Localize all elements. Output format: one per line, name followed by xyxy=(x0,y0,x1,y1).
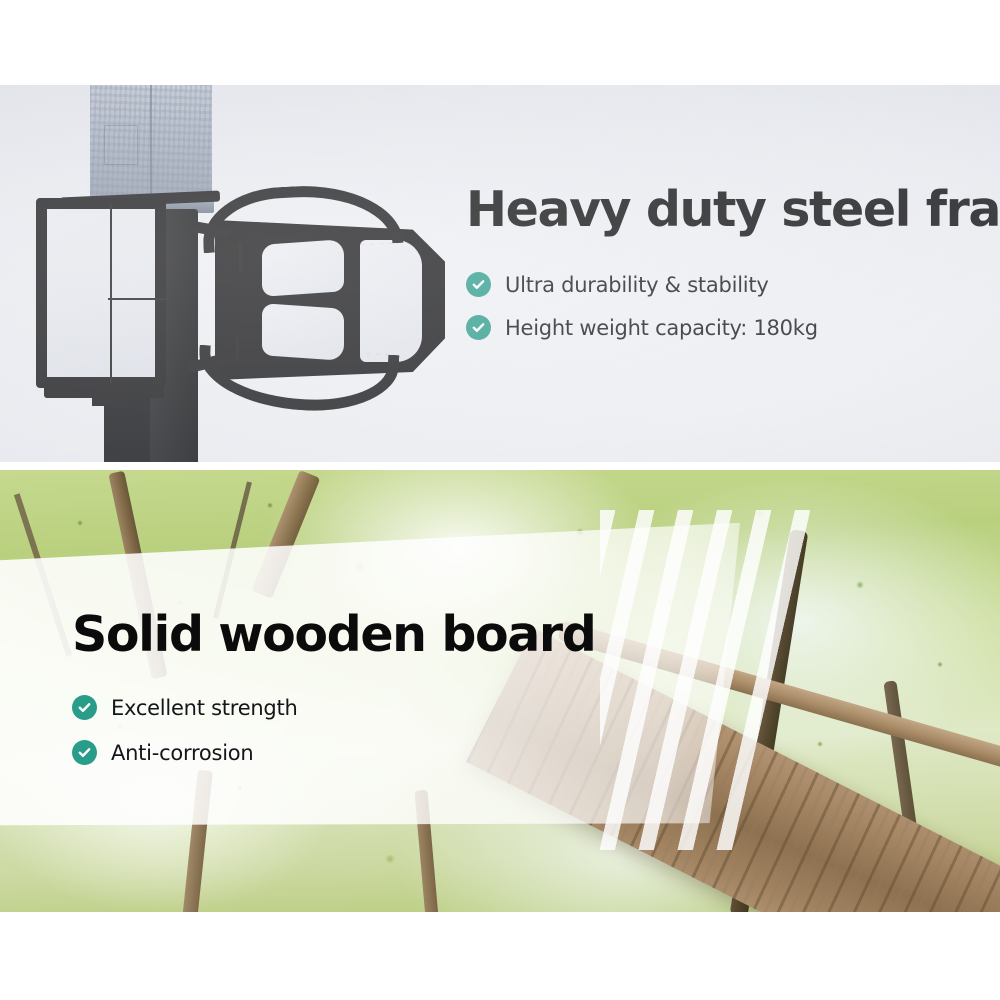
steel-frame-assembly xyxy=(30,180,470,430)
toe-plate-divider-h xyxy=(108,298,168,300)
check-circle-icon xyxy=(72,695,97,720)
feature-label: Ultra durability & stability xyxy=(505,273,769,297)
frame-handle-bottom xyxy=(197,345,400,415)
product-photo-steel-frame xyxy=(0,85,470,462)
panel-solid-wooden-board: Solid wooden board Excellent strength xyxy=(0,470,1000,912)
wooden-board-text-block: Solid wooden board Excellent strength xyxy=(72,610,632,785)
check-circle-icon xyxy=(466,272,491,297)
feature-item: Excellent strength xyxy=(72,695,632,720)
feature-label: Excellent strength xyxy=(111,696,298,720)
frame-handle-top xyxy=(201,181,404,253)
toe-plate-lip-tab xyxy=(92,394,130,406)
steel-frame-text-block: Heavy duty steel frame Ultra durability … xyxy=(466,185,986,358)
feature-label: Height weight capacity: 180kg xyxy=(505,316,818,340)
frame-latch-pin-upper xyxy=(239,242,242,272)
panel-heavy-duty-steel-frame: Heavy duty steel frame Ultra durability … xyxy=(0,85,1000,462)
wooden-board-feature-list: Excellent strength Anti-corrosion xyxy=(72,695,632,765)
feature-item: Ultra durability & stability xyxy=(466,272,986,297)
frame-cutout-right xyxy=(360,240,422,362)
steel-frame-feature-list: Ultra durability & stability Height weig… xyxy=(466,272,986,340)
product-feature-page: Heavy duty steel frame Ultra durability … xyxy=(0,0,1000,1000)
feature-label: Anti-corrosion xyxy=(111,741,253,765)
denim-pocket xyxy=(104,125,138,165)
panel-title-wooden-board: Solid wooden board xyxy=(72,610,632,659)
check-circle-icon xyxy=(72,740,97,765)
feature-item: Height weight capacity: 180kg xyxy=(466,315,986,340)
panel-title-steel-frame: Heavy duty steel frame xyxy=(466,185,986,234)
feature-item: Anti-corrosion xyxy=(72,740,632,765)
frame-toe-plate xyxy=(36,198,166,388)
toe-plate-divider-v xyxy=(110,204,112,386)
check-circle-icon xyxy=(466,315,491,340)
frame-latch-pin-lower xyxy=(236,338,239,358)
